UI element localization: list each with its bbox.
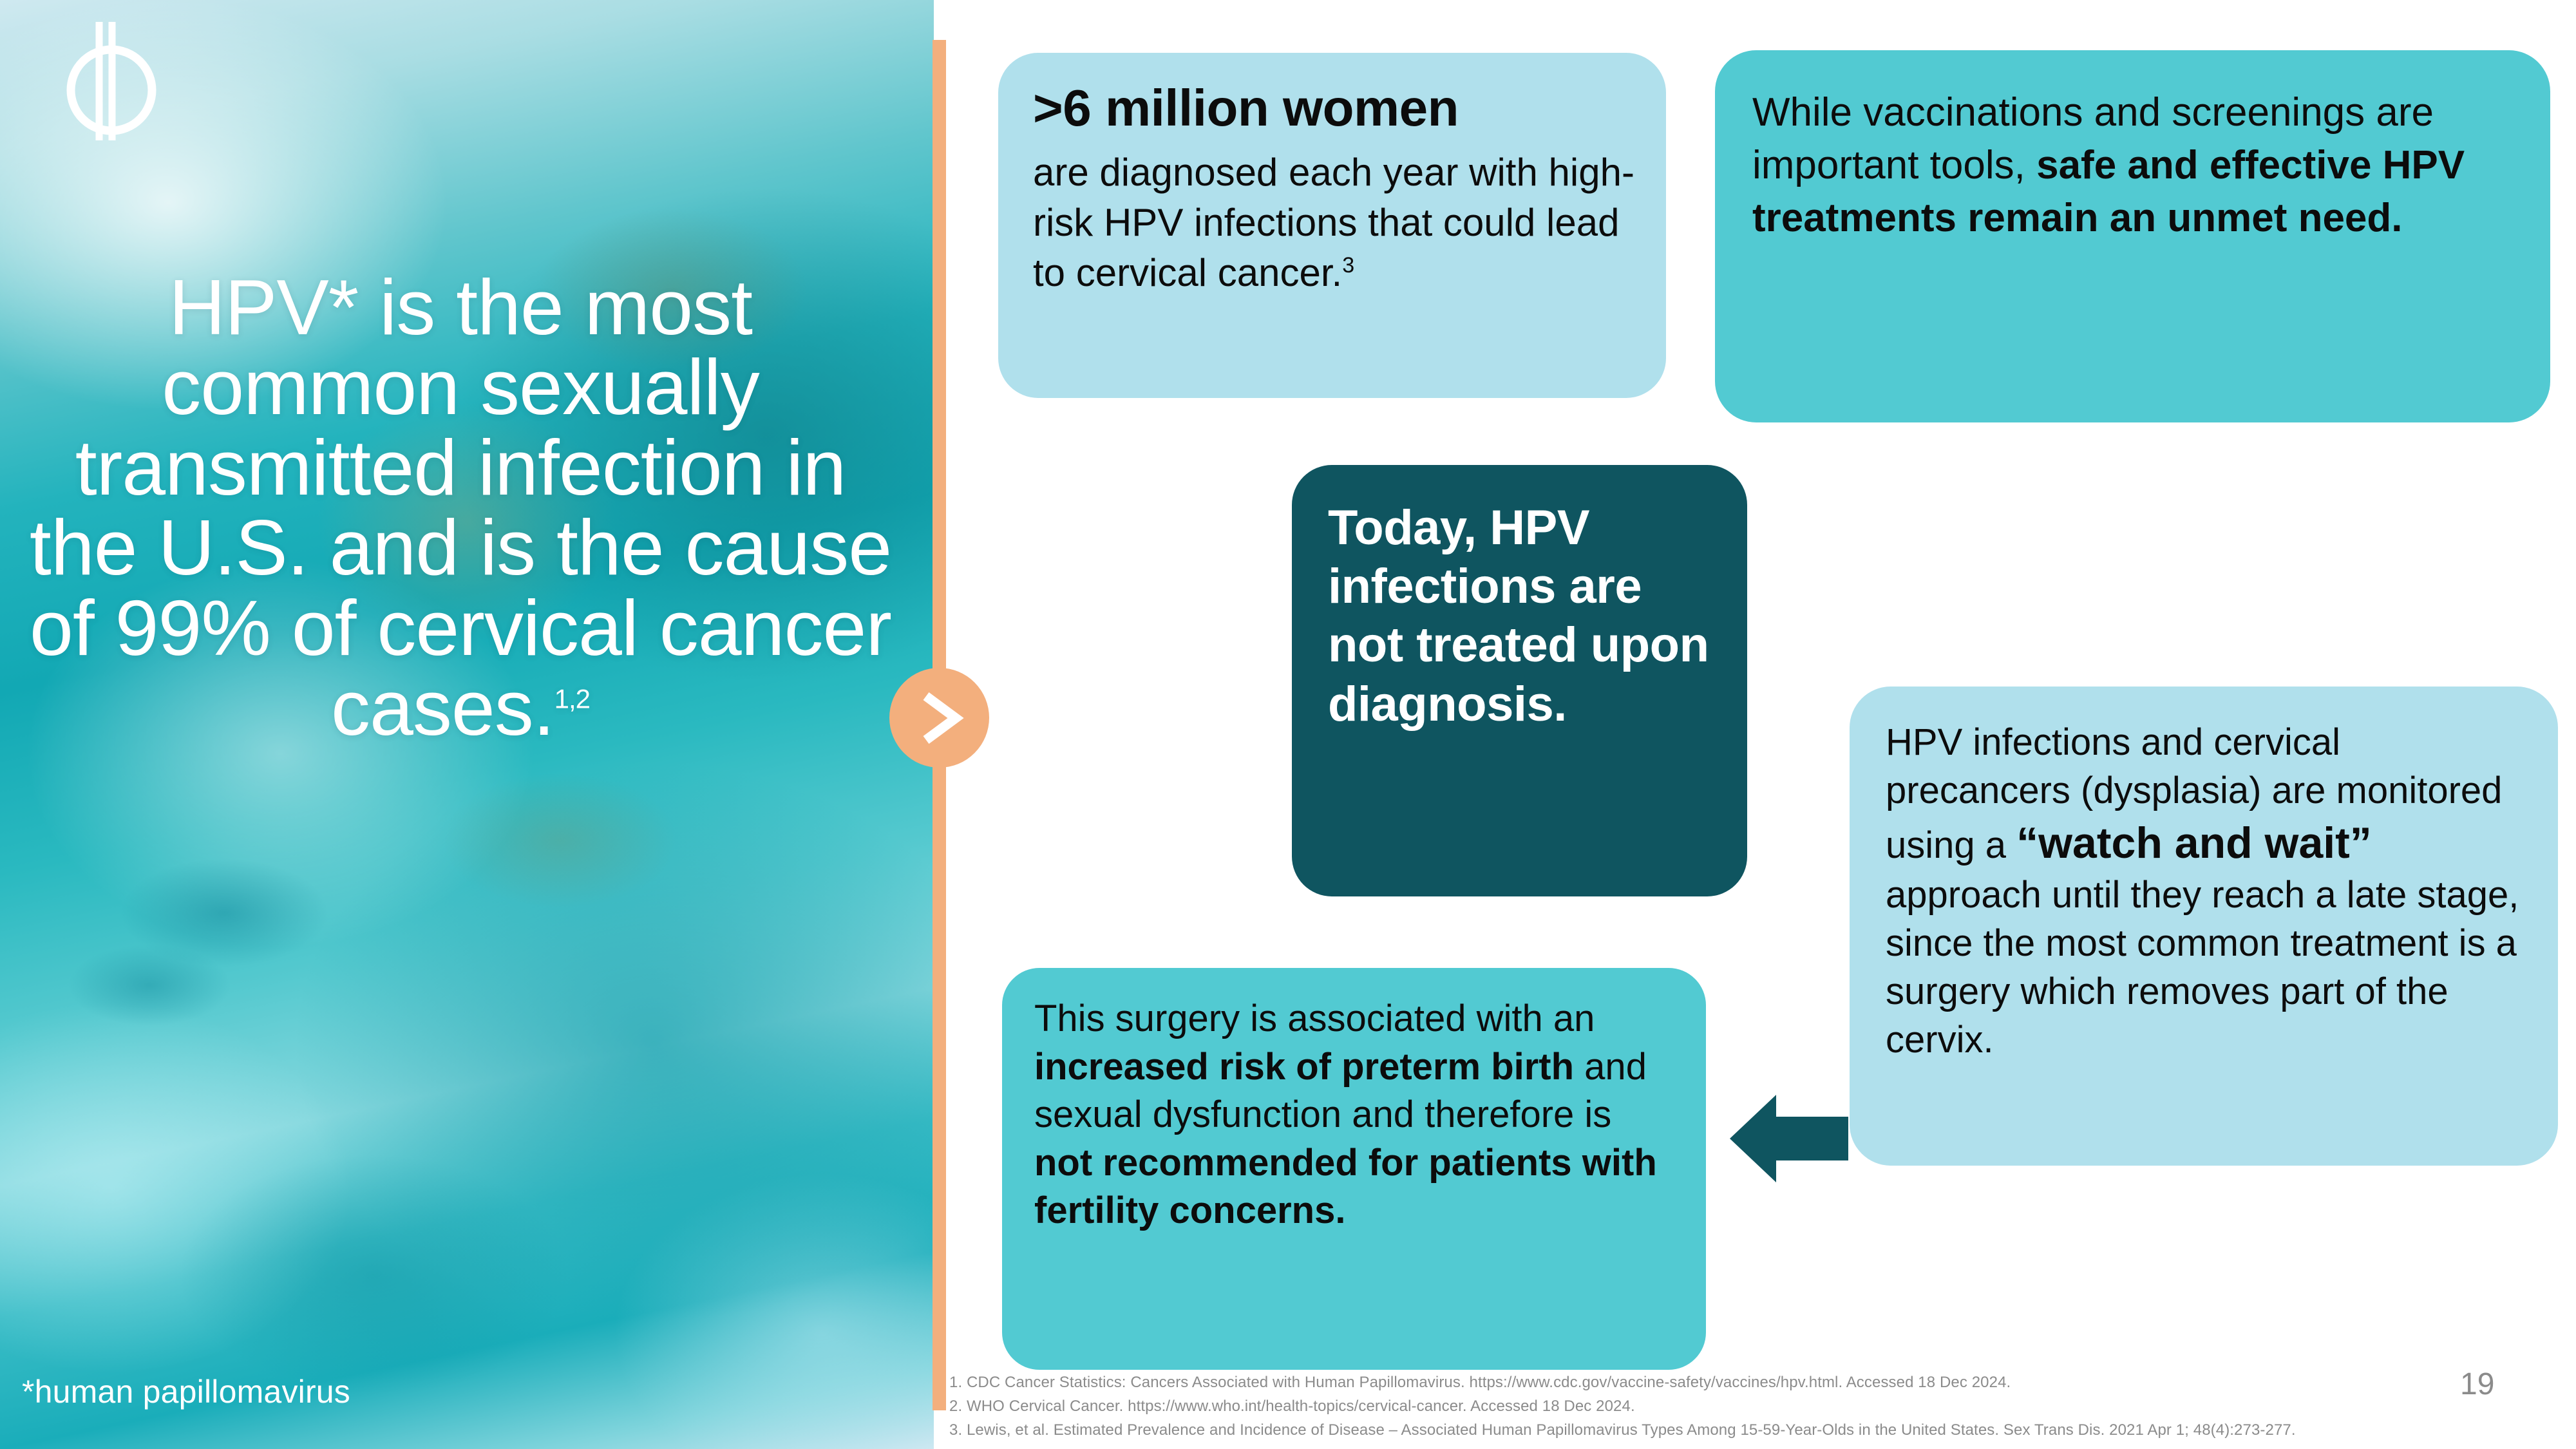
card-watch-and-wait: HPV infections and cervical precancers (… — [1850, 687, 2558, 1166]
reference-item: 2. WHO Cervical Cancer. https://www.who.… — [949, 1394, 2443, 1418]
card-surgery-risk: This surgery is associated with an incre… — [1002, 968, 1706, 1370]
reference-item: 3. Lewis, et al. Estimated Prevalence an… — [949, 1418, 2443, 1442]
card-surgery-p1: This surgery is associated with an — [1034, 998, 1595, 1039]
chevron-right-icon — [912, 687, 967, 749]
card-today-text: Today, HPV infections are not treated up… — [1328, 500, 1709, 732]
page-number: 19 — [2460, 1369, 2494, 1400]
references-list: 1. CDC Cancer Statistics: Cancers Associ… — [949, 1370, 2443, 1443]
hero-panel: HPV* is the most common sexually transmi… — [0, 0, 934, 1449]
slide-canvas: HPV* is the most common sexually transmi… — [0, 0, 2576, 1449]
card-watch-tail: approach until they reach a late stage, … — [1886, 874, 2519, 1060]
card-surgery-b1: increased risk of preterm birth — [1034, 1046, 1574, 1088]
card-watch-quote: “watch and wait” — [2016, 819, 2372, 867]
card-statistic-superscript: 3 — [1342, 253, 1354, 278]
card-surgery-b2: not recommended for patients with fertil… — [1034, 1142, 1657, 1232]
reference-item: 1. CDC Cancer Statistics: Cancers Associ… — [949, 1370, 2443, 1394]
card-unmet-need: While vaccinations and screenings are im… — [1715, 50, 2550, 422]
card-statistic: >6 million womenare diagnosed each year … — [998, 53, 1666, 398]
hero-headline-text: HPV* is the most common sexually transmi… — [30, 263, 891, 752]
hero-headline-superscript: 1,2 — [554, 684, 590, 714]
card-statistic-body: are diagnosed each year with high-risk H… — [1033, 147, 1635, 298]
hero-footnote: *human papillomavirus — [22, 1376, 350, 1408]
card-today-statement: Today, HPV infections are not treated up… — [1292, 465, 1747, 896]
next-chevron-button[interactable] — [889, 668, 989, 768]
arrow-left-icon — [1730, 1095, 1848, 1182]
company-logo-icon — [57, 14, 166, 146]
hero-headline: HPV* is the most common sexually transmi… — [26, 267, 895, 748]
card-statistic-headline: >6 million women — [1033, 81, 1635, 136]
